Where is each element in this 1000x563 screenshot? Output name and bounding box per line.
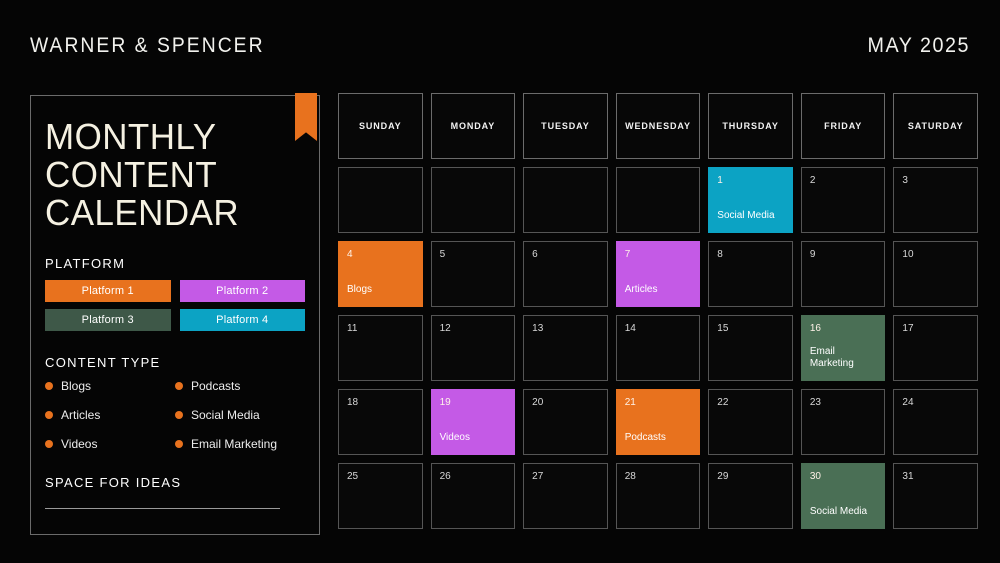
page-title: MONTHLY CONTENT CALENDAR xyxy=(45,118,297,232)
platform-swatch-4[interactable]: Platform 4 xyxy=(180,309,306,331)
content-type-item[interactable]: Social Media xyxy=(175,408,305,422)
page-header: WARNER & SPENCER MAY 2025 xyxy=(0,0,1000,92)
day-cell-26[interactable]: 26 xyxy=(431,463,516,529)
day-number: 28 xyxy=(625,471,692,483)
day-event-label: Email Marketing xyxy=(810,346,879,370)
day-cell-7[interactable]: 7Articles xyxy=(616,241,701,307)
day-cell-empty[interactable] xyxy=(338,167,423,233)
day-number: 15 xyxy=(717,323,784,335)
day-number: 23 xyxy=(810,397,877,409)
bullet-dot-icon xyxy=(45,382,53,390)
day-number: 5 xyxy=(440,249,507,261)
day-number: 30 xyxy=(810,471,877,483)
day-cell-18[interactable]: 18 xyxy=(338,389,423,455)
info-panel: MONTHLY CONTENT CALENDAR PLATFORM Platfo… xyxy=(30,95,320,535)
weekday-header-tuesday: TUESDAY xyxy=(523,93,608,159)
weekday-header-friday: FRIDAY xyxy=(801,93,886,159)
weekday-header-wednesday: WEDNESDAY xyxy=(616,93,701,159)
day-cell-24[interactable]: 24 xyxy=(893,389,978,455)
day-cell-11[interactable]: 11 xyxy=(338,315,423,381)
content-type-label: Email Marketing xyxy=(191,437,277,451)
day-number: 22 xyxy=(717,397,784,409)
brand-name: WARNER & SPENCER xyxy=(30,34,265,58)
content-type-label: Videos xyxy=(61,437,97,451)
content-type-item[interactable]: Podcasts xyxy=(175,379,305,393)
day-cell-27[interactable]: 27 xyxy=(523,463,608,529)
weekday-header-saturday: SATURDAY xyxy=(893,93,978,159)
day-cell-1[interactable]: 1Social Media xyxy=(708,167,793,233)
day-number: 18 xyxy=(347,397,414,409)
day-cell-empty[interactable] xyxy=(523,167,608,233)
day-cell-23[interactable]: 23 xyxy=(801,389,886,455)
day-number: 10 xyxy=(902,249,969,261)
day-cell-13[interactable]: 13 xyxy=(523,315,608,381)
day-cell-25[interactable]: 25 xyxy=(338,463,423,529)
bullet-dot-icon xyxy=(175,411,183,419)
day-number: 19 xyxy=(440,397,507,409)
content-type-label: Social Media xyxy=(191,408,260,422)
day-cell-30[interactable]: 30Social Media xyxy=(801,463,886,529)
day-event-label: Social Media xyxy=(717,210,786,222)
day-number: 21 xyxy=(625,397,692,409)
day-cell-4[interactable]: 4Blogs xyxy=(338,241,423,307)
ideas-write-line[interactable] xyxy=(45,508,280,509)
month-label: MAY 2025 xyxy=(868,34,970,58)
day-cell-19[interactable]: 19Videos xyxy=(431,389,516,455)
bullet-dot-icon xyxy=(175,440,183,448)
content-type-label: Blogs xyxy=(61,379,91,393)
bullet-dot-icon xyxy=(45,440,53,448)
day-cell-15[interactable]: 15 xyxy=(708,315,793,381)
day-number: 13 xyxy=(532,323,599,335)
content-type-item[interactable]: Articles xyxy=(45,408,175,422)
platform-swatch-3[interactable]: Platform 3 xyxy=(45,309,171,331)
day-event-label: Blogs xyxy=(347,284,416,296)
platform-heading: PLATFORM xyxy=(45,256,305,271)
content-type-item[interactable]: Email Marketing xyxy=(175,437,305,451)
day-event-label: Videos xyxy=(440,432,509,444)
content-type-legend: BlogsPodcastsArticlesSocial MediaVideosE… xyxy=(45,379,305,451)
day-cell-21[interactable]: 21Podcasts xyxy=(616,389,701,455)
day-cell-empty[interactable] xyxy=(431,167,516,233)
weekday-header-sunday: SUNDAY xyxy=(338,93,423,159)
day-number: 11 xyxy=(347,323,414,335)
day-cell-3[interactable]: 3 xyxy=(893,167,978,233)
day-number: 12 xyxy=(440,323,507,335)
day-number: 6 xyxy=(532,249,599,261)
day-number: 25 xyxy=(347,471,414,483)
content-type-heading: CONTENT TYPE xyxy=(45,355,305,370)
day-number: 7 xyxy=(625,249,692,261)
platform-swatch-2[interactable]: Platform 2 xyxy=(180,280,306,302)
platform-swatch-1[interactable]: Platform 1 xyxy=(45,280,171,302)
day-number: 16 xyxy=(810,323,877,335)
day-cell-9[interactable]: 9 xyxy=(801,241,886,307)
day-number: 8 xyxy=(717,249,784,261)
day-cell-22[interactable]: 22 xyxy=(708,389,793,455)
day-cell-20[interactable]: 20 xyxy=(523,389,608,455)
bullet-dot-icon xyxy=(175,382,183,390)
day-cell-empty[interactable] xyxy=(616,167,701,233)
bookmark-ribbon-icon xyxy=(295,93,317,141)
weekday-header-thursday: THURSDAY xyxy=(708,93,793,159)
day-event-label: Articles xyxy=(625,284,694,296)
day-number: 24 xyxy=(902,397,969,409)
day-cell-2[interactable]: 2 xyxy=(801,167,886,233)
platform-legend: Platform 1Platform 2Platform 3Platform 4 xyxy=(45,280,305,331)
content-type-label: Podcasts xyxy=(191,379,240,393)
day-number: 1 xyxy=(717,175,784,187)
day-number: 27 xyxy=(532,471,599,483)
day-cell-14[interactable]: 14 xyxy=(616,315,701,381)
day-cell-12[interactable]: 12 xyxy=(431,315,516,381)
day-cell-10[interactable]: 10 xyxy=(893,241,978,307)
day-number: 17 xyxy=(902,323,969,335)
day-cell-17[interactable]: 17 xyxy=(893,315,978,381)
day-event-label: Social Media xyxy=(810,506,879,518)
day-number: 20 xyxy=(532,397,599,409)
day-number: 9 xyxy=(810,249,877,261)
day-cell-29[interactable]: 29 xyxy=(708,463,793,529)
day-number: 26 xyxy=(440,471,507,483)
bullet-dot-icon xyxy=(45,411,53,419)
content-calendar-page: WARNER & SPENCER MAY 2025 MONTHLY CONTEN… xyxy=(0,0,1000,563)
day-number: 2 xyxy=(810,175,877,187)
day-number: 4 xyxy=(347,249,414,261)
day-cell-8[interactable]: 8 xyxy=(708,241,793,307)
day-number: 14 xyxy=(625,323,692,335)
content-type-item[interactable]: Videos xyxy=(45,437,175,451)
day-cell-31[interactable]: 31 xyxy=(893,463,978,529)
ideas-heading: SPACE FOR IDEAS xyxy=(45,475,305,490)
day-number: 3 xyxy=(902,175,969,187)
day-event-label: Podcasts xyxy=(625,432,694,444)
day-cell-28[interactable]: 28 xyxy=(616,463,701,529)
content-type-label: Articles xyxy=(61,408,100,422)
day-cell-6[interactable]: 6 xyxy=(523,241,608,307)
day-cell-5[interactable]: 5 xyxy=(431,241,516,307)
weekday-header-monday: MONDAY xyxy=(431,93,516,159)
day-cell-16[interactable]: 16Email Marketing xyxy=(801,315,886,381)
content-type-item[interactable]: Blogs xyxy=(45,379,175,393)
day-number: 31 xyxy=(902,471,969,483)
day-number: 29 xyxy=(717,471,784,483)
calendar-grid: SUNDAYMONDAYTUESDAYWEDNESDAYTHURSDAYFRID… xyxy=(338,93,978,529)
